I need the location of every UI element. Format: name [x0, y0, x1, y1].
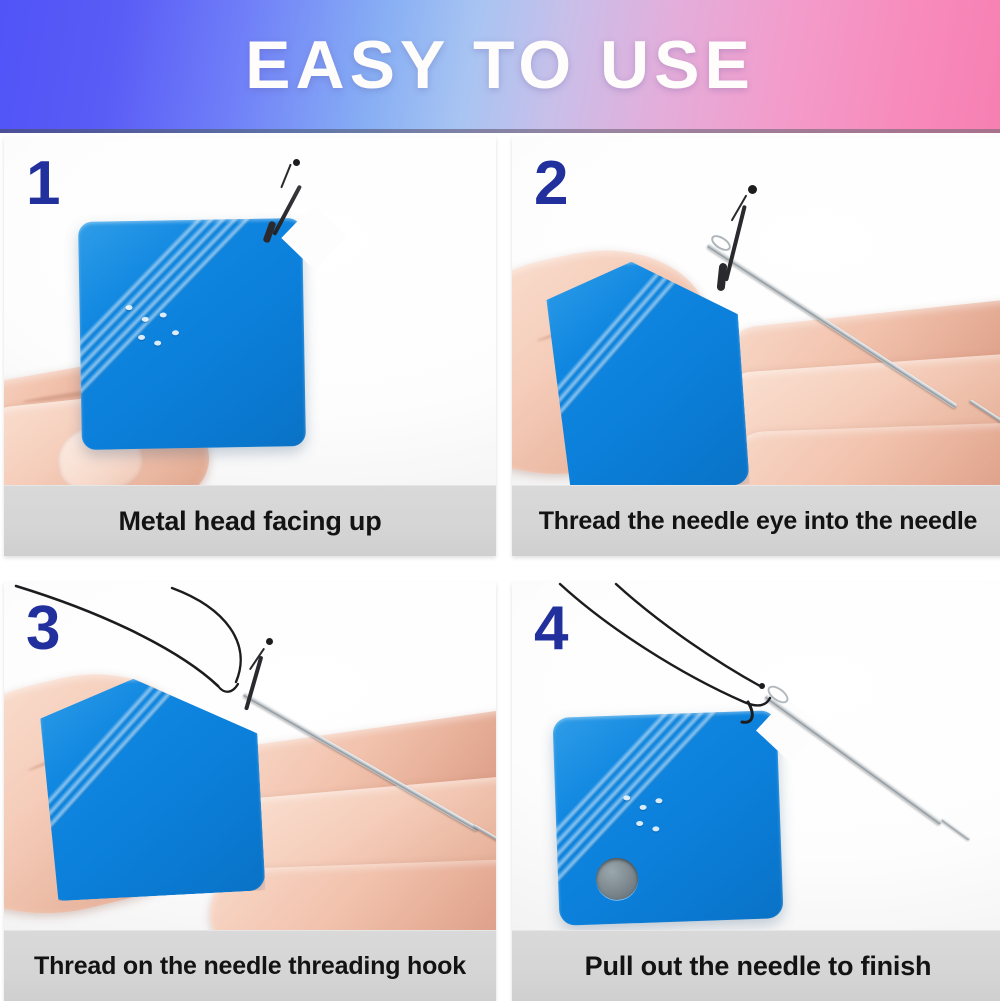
step-caption-text: Metal head facing up: [118, 506, 381, 537]
wire-hook-tip: [293, 159, 300, 166]
step-photo-1: 1: [4, 137, 496, 485]
step-caption-text: Pull out the needle to finish: [585, 951, 932, 982]
step-photo-2: 2: [512, 137, 1000, 485]
step-caption-3: Thread on the needle threading hook: [4, 930, 496, 1001]
infographic-page: EASY TO USE: [0, 0, 1000, 997]
illustration-step-2: [512, 137, 1000, 485]
step-panel-1[interactable]: 1 Metal head facing up: [4, 137, 496, 556]
step-photo-4: 4: [512, 582, 1000, 930]
illustration-step-4: [512, 582, 1000, 930]
step-number-3: 3: [26, 600, 60, 659]
step-caption-1: Metal head facing up: [4, 485, 496, 556]
illustration-step-1: [4, 137, 496, 485]
wire-hook-tip: [748, 185, 757, 194]
illustration-step-3: [4, 582, 496, 930]
needle-threader-plate: [78, 218, 306, 450]
step-panel-4[interactable]: 4 Pull out the needle to finish: [512, 582, 1000, 1001]
step-caption-2: Thread the needle eye into the needle: [512, 485, 1000, 556]
page-title: EASY TO USE: [0, 0, 1000, 129]
thread-loop: [512, 582, 1000, 930]
step-number-2: 2: [534, 155, 568, 214]
step-panel-3[interactable]: 3 Thread on the needle threading hook: [4, 582, 496, 1001]
plate-dimples: [78, 218, 306, 450]
wire-hook-base: [717, 263, 728, 292]
step-photo-3: 3: [4, 582, 496, 930]
finger: [725, 421, 1000, 485]
steps-grid: 1 Metal head facing up: [0, 133, 1000, 997]
header-banner: EASY TO USE: [0, 0, 1000, 133]
thread-loop: [4, 582, 496, 930]
step-caption-text: Thread the needle eye into the needle: [539, 507, 978, 536]
wire-hook-taper: [280, 164, 292, 189]
step-panel-2[interactable]: 2 Thread the needle eye into the needle: [512, 137, 1000, 556]
step-number-1: 1: [26, 155, 60, 214]
step-caption-text: Thread on the needle threading hook: [34, 952, 466, 981]
step-number-4: 4: [534, 600, 568, 659]
step-caption-4: Pull out the needle to finish: [512, 930, 1000, 1001]
